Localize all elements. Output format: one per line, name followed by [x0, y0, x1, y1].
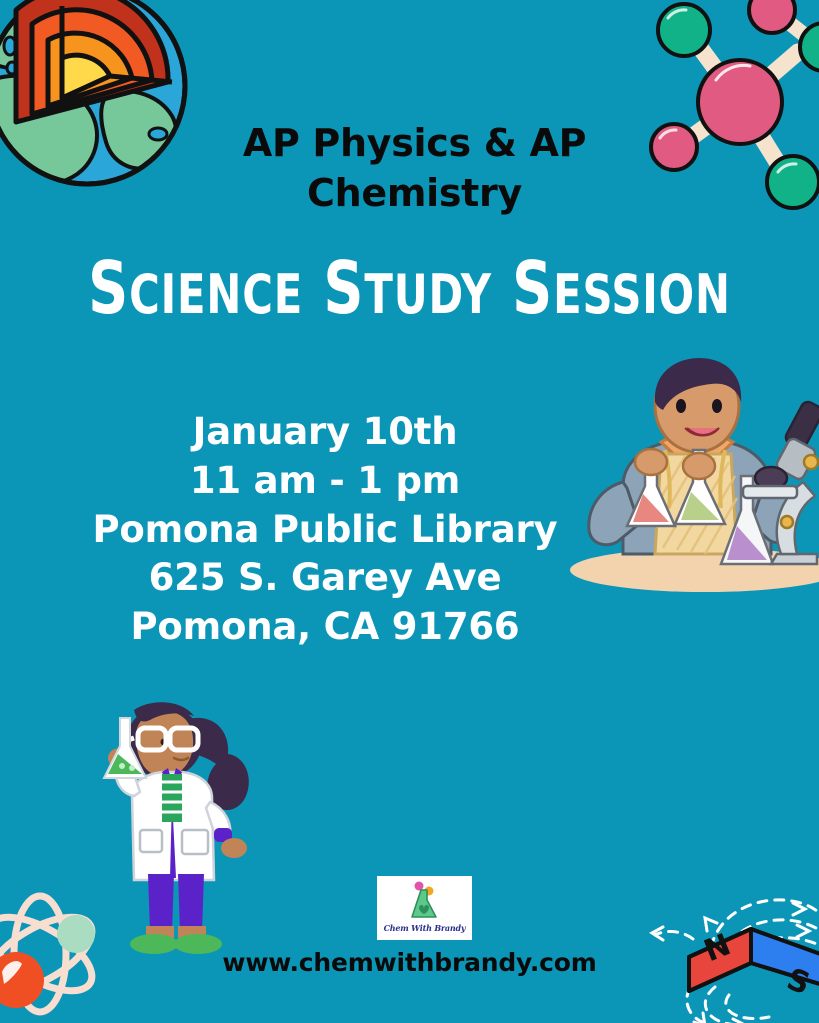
flask-logo-icon — [408, 881, 442, 921]
bar-magnet-illustration: N S — [645, 895, 819, 1023]
detail-venue: Pomona Public Library — [0, 506, 650, 555]
girl-left-leg — [148, 874, 174, 932]
detail-time: 11 am - 1 pm — [0, 457, 650, 506]
flyer-canvas: AP Physics & AP Chemistry SCIENCE STUDY … — [0, 0, 819, 1023]
detail-street: 625 S. Garey Ave — [0, 554, 650, 603]
girl-right-leg — [178, 874, 204, 932]
event-details: January 10th 11 am - 1 pm Pomona Public … — [0, 408, 650, 652]
boy-right-hand — [683, 453, 715, 479]
boy-head — [655, 358, 741, 452]
subtitle-line-2: Chemistry — [10, 168, 819, 218]
subtitle-line-1: AP Physics & AP — [10, 118, 819, 168]
detail-city: Pomona, CA 91766 — [0, 603, 650, 652]
detail-date: January 10th — [0, 408, 650, 457]
event-subtitle: AP Physics & AP Chemistry — [0, 118, 819, 218]
brand-logo-card[interactable]: Chem With Brandy — [377, 876, 472, 940]
girl-right-hand — [221, 838, 247, 858]
page-title: SCIENCE STUDY SESSION — [57, 252, 761, 324]
brand-logo-caption: Chem With Brandy — [377, 923, 472, 933]
